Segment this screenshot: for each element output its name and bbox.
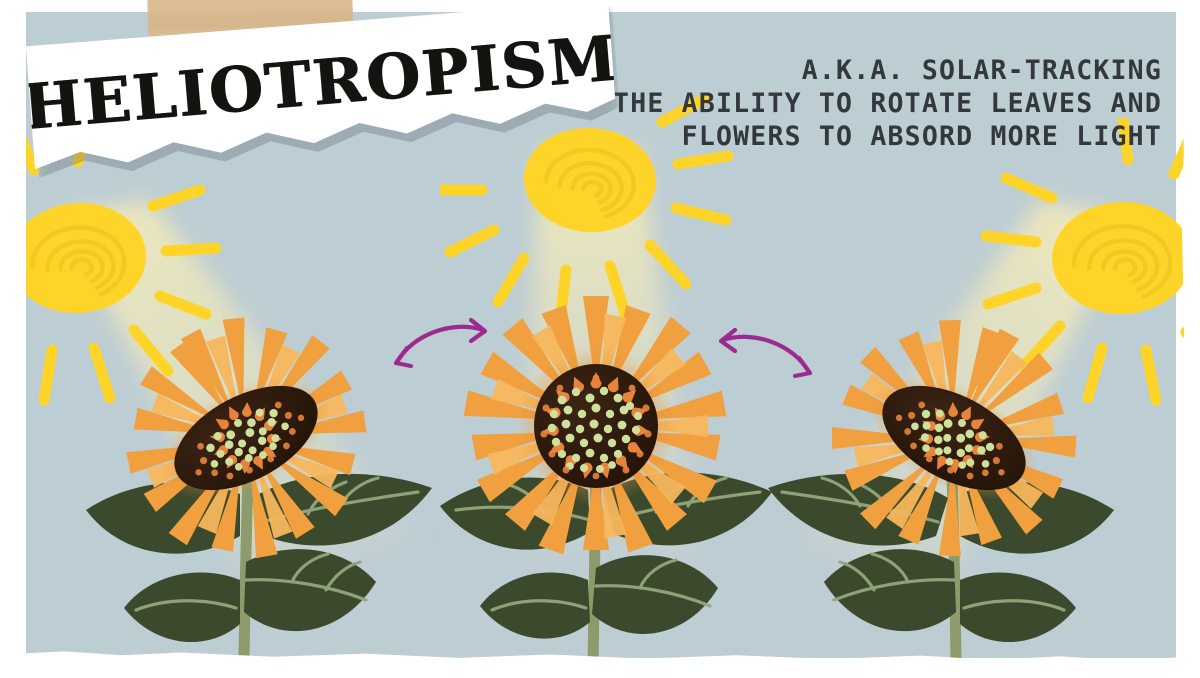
subtitle-line-1: A.K.A. SOLAR-TRACKING bbox=[600, 54, 1162, 87]
panel-left-margin bbox=[0, 0, 26, 678]
subtitle-line-2: THE ABILITY TO ROTATE LEAVES AND bbox=[600, 87, 1162, 120]
infographic-poster: A.K.A. SOLAR-TRACKING THE ABILITY TO ROT… bbox=[0, 0, 1200, 678]
sunflower-left bbox=[40, 290, 460, 660]
sunflower-right bbox=[740, 290, 1160, 660]
subtitle-line-3: FLOWERS TO ABSORD MORE LIGHT bbox=[600, 120, 1162, 153]
subtitle-block: A.K.A. SOLAR-TRACKING THE ABILITY TO ROT… bbox=[600, 54, 1162, 153]
